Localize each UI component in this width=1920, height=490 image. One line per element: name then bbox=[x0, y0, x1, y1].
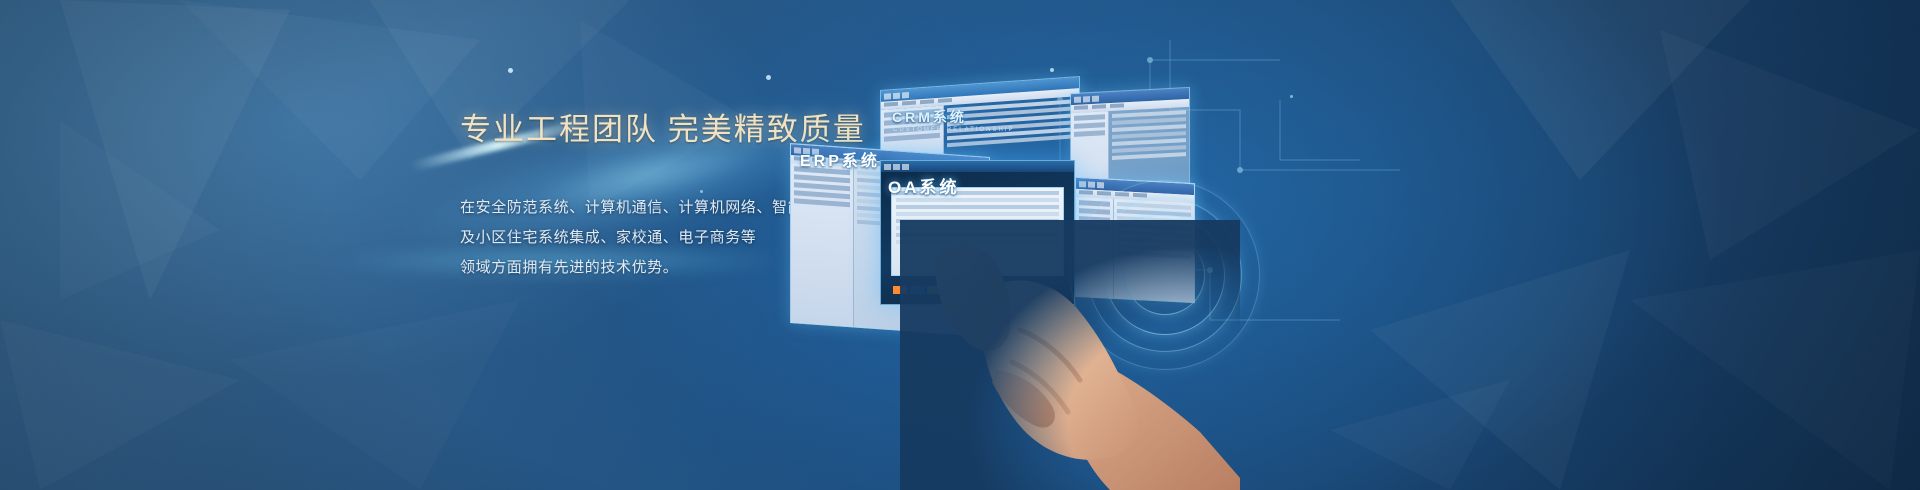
content-row bbox=[896, 219, 1059, 223]
chip-green bbox=[927, 286, 941, 294]
chip-orange bbox=[893, 286, 907, 294]
crm-window-sublabel: CUSTOMER RELATIONSHIP bbox=[893, 127, 1014, 133]
chip-blue bbox=[910, 286, 924, 294]
data-window-mockup[interactable] bbox=[1075, 177, 1195, 303]
polygon-decor-right bbox=[1330, 0, 1920, 490]
hero-banner: 专业工程团队 完美精致质量 在安全防范系统、计算机通信、计算机网络、智能大厦 及… bbox=[0, 0, 1920, 490]
polygon-decor-left bbox=[60, 0, 480, 300]
oa-status-chips bbox=[893, 286, 958, 294]
content-row bbox=[896, 226, 1059, 230]
oa-window-screen bbox=[891, 187, 1064, 276]
chip-blue bbox=[944, 286, 958, 294]
window-sidebar bbox=[791, 163, 854, 326]
window-titlebar bbox=[881, 161, 1074, 172]
window-main-area bbox=[1114, 199, 1194, 302]
content-row bbox=[896, 233, 1059, 237]
particle-dot bbox=[508, 68, 513, 73]
window-sidebar bbox=[1076, 197, 1114, 298]
window-content bbox=[1076, 197, 1194, 302]
oa-window-label: OA系统 bbox=[888, 173, 960, 198]
content-row bbox=[896, 240, 1059, 244]
software-screens-group: CRM系统 CUSTOMER RELATIONSHIP bbox=[780, 55, 1340, 385]
crm-window-label: CRM系统 bbox=[892, 107, 967, 127]
particle-dot bbox=[766, 75, 771, 80]
content-row bbox=[896, 205, 1059, 209]
content-row bbox=[896, 198, 1059, 202]
polygon-decor-bottom-left bbox=[0, 300, 520, 490]
erp-window-label: ERP系统 bbox=[800, 147, 880, 171]
content-row bbox=[896, 212, 1059, 216]
